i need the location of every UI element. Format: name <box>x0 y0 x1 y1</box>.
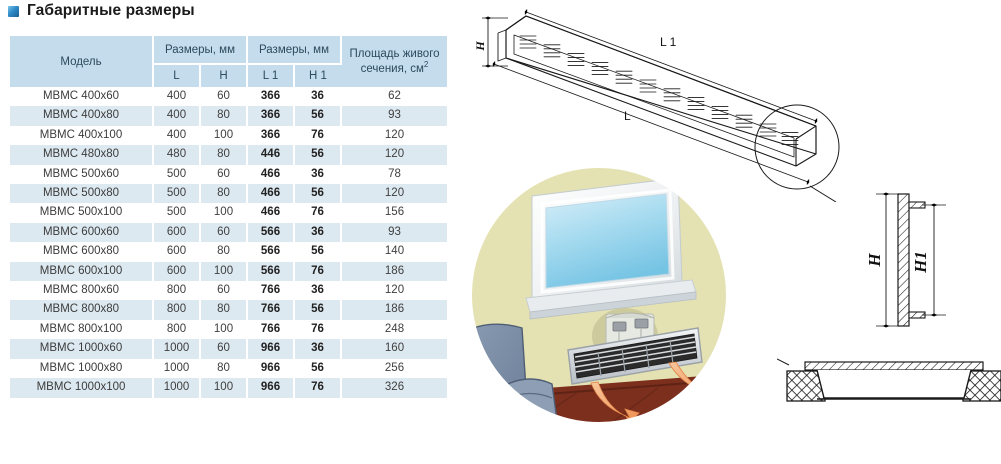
cell-h1: 56 <box>294 359 341 378</box>
cell-model: МВМС 500x60 <box>10 165 153 184</box>
drawing-area: H L 1 L <box>462 0 1001 464</box>
cell-l: 480 <box>153 145 200 164</box>
cell-l: 600 <box>153 223 200 242</box>
cell-l1: 466 <box>247 184 294 203</box>
cell-h1: 56 <box>294 184 341 203</box>
cell-model: МВМС 500x100 <box>10 203 153 222</box>
cell-area: 326 <box>341 378 447 397</box>
cell-l: 800 <box>153 300 200 319</box>
cell-l1: 966 <box>247 378 294 397</box>
cell-l1: 566 <box>247 242 294 261</box>
cell-h: 80 <box>200 106 247 125</box>
cell-l1: 766 <box>247 320 294 339</box>
duct-body-profile <box>817 370 971 398</box>
bullet-square-icon <box>8 6 19 17</box>
table-row: МВМС 800x608006076636120 <box>10 281 447 300</box>
cell-l: 400 <box>153 126 200 145</box>
cell-l: 1000 <box>153 359 200 378</box>
cell-l: 400 <box>153 106 200 125</box>
cell-l1: 966 <box>247 359 294 378</box>
leader-line-wall <box>777 359 789 365</box>
table-row: МВМС 600x806008056656140 <box>10 242 447 261</box>
cell-area: 120 <box>341 126 447 145</box>
cell-h: 80 <box>200 359 247 378</box>
col-header-h1: H 1 <box>294 64 341 87</box>
cell-model: МВМС 600x100 <box>10 262 153 281</box>
faceplate-horizontal <box>805 362 983 370</box>
cell-model: МВМС 800x100 <box>10 320 153 339</box>
col-header-group-1: Размеры, мм <box>153 36 247 64</box>
cell-model: МВМС 1000x80 <box>10 359 153 378</box>
cell-model: МВМС 400x100 <box>10 126 153 145</box>
col-header-h: H <box>200 64 247 87</box>
cell-area: 78 <box>341 165 447 184</box>
cell-l: 1000 <box>153 339 200 358</box>
cell-model: МВМС 800x60 <box>10 281 153 300</box>
cell-area: 120 <box>341 184 447 203</box>
dimension-H1-section: H1 <box>911 205 934 315</box>
table-body: МВМС 400x60400603663662МВМС 400x80400803… <box>10 87 447 398</box>
cell-model: МВМС 1000x100 <box>10 378 153 397</box>
table-head: Модель Размеры, мм Размеры, мм Площадь ж… <box>10 36 447 87</box>
cell-l: 500 <box>153 165 200 184</box>
cell-l1: 466 <box>247 165 294 184</box>
cell-h1: 36 <box>294 87 341 106</box>
label-L1-iso: L 1 <box>660 35 677 49</box>
cell-h: 100 <box>200 320 247 339</box>
cell-l1: 366 <box>247 87 294 106</box>
cell-area: 62 <box>341 87 447 106</box>
table-row: МВМС 500x10050010046676156 <box>10 203 447 222</box>
col-header-l1: L 1 <box>247 64 294 87</box>
cell-h1: 56 <box>294 300 341 319</box>
section-title: Габаритные размеры <box>8 2 195 20</box>
room-illustration <box>470 166 728 424</box>
page-title: Габаритные размеры <box>27 2 195 20</box>
cell-l1: 446 <box>247 145 294 164</box>
cell-h1: 76 <box>294 203 341 222</box>
cell-l: 1000 <box>153 378 200 397</box>
table-row: МВМС 500x805008046656120 <box>10 184 447 203</box>
cell-h: 80 <box>200 242 247 261</box>
cell-area: 140 <box>341 242 447 261</box>
cell-area: 156 <box>341 203 447 222</box>
cell-h1: 36 <box>294 281 341 300</box>
cell-l1: 966 <box>247 339 294 358</box>
table-row: МВМС 500x60500604663678 <box>10 165 447 184</box>
cell-l: 500 <box>153 184 200 203</box>
cell-l: 400 <box>153 87 200 106</box>
cell-h: 60 <box>200 339 247 358</box>
cell-h: 100 <box>200 203 247 222</box>
col-header-area: Площадь живого сечения, см2 <box>341 36 447 87</box>
cell-h: 80 <box>200 300 247 319</box>
cell-area: 120 <box>341 281 447 300</box>
dimension-H-section: H <box>865 194 886 326</box>
cell-area: 186 <box>341 262 447 281</box>
cell-h: 60 <box>200 165 247 184</box>
cell-model: МВМС 400x80 <box>10 106 153 125</box>
label-H-iso: H <box>473 41 487 52</box>
dimensions-table: Модель Размеры, мм Размеры, мм Площадь ж… <box>10 36 447 398</box>
table-row: МВМС 600x10060010056676186 <box>10 262 447 281</box>
cell-h: 100 <box>200 126 247 145</box>
table-row: МВМС 1000x6010006096636160 <box>10 339 447 358</box>
table-row: МВМС 800x10080010076676248 <box>10 320 447 339</box>
cell-h1: 36 <box>294 223 341 242</box>
cell-model: МВМС 480x80 <box>10 145 153 164</box>
cell-model: МВМС 800x80 <box>10 300 153 319</box>
cell-h1: 56 <box>294 242 341 261</box>
cell-l1: 366 <box>247 126 294 145</box>
cell-h1: 36 <box>294 339 341 358</box>
table-row: МВМС 1000x100100010096676326 <box>10 378 447 397</box>
cell-l: 500 <box>153 203 200 222</box>
table-row: МВМС 800x808008076656186 <box>10 300 447 319</box>
cell-area: 93 <box>341 223 447 242</box>
cell-l1: 766 <box>247 300 294 319</box>
table-row: МВМС 480x804808044656120 <box>10 145 447 164</box>
cell-area: 160 <box>341 339 447 358</box>
detail-leader-line <box>810 186 836 202</box>
table-row: МВМС 400x80400803665693 <box>10 106 447 125</box>
cell-l1: 466 <box>247 203 294 222</box>
table-row: МВМС 1000x8010008096656256 <box>10 359 447 378</box>
cell-l1: 566 <box>247 223 294 242</box>
cell-l: 800 <box>153 281 200 300</box>
table-row: МВМС 600x60600605663693 <box>10 223 447 242</box>
window-glass <box>546 194 669 288</box>
cell-model: МВМС 400x60 <box>10 87 153 106</box>
table-row: МВМС 400x10040010036676120 <box>10 126 447 145</box>
col-header-l: L <box>153 64 200 87</box>
col-header-model: Модель <box>10 36 153 87</box>
cell-h1: 76 <box>294 262 341 281</box>
cell-model: МВМС 1000x60 <box>10 339 153 358</box>
cell-model: МВМС 600x60 <box>10 223 153 242</box>
col-header-area-sup: 2 <box>424 60 428 69</box>
cell-h1: 76 <box>294 378 341 397</box>
cell-l: 600 <box>153 242 200 261</box>
col-header-area-line1: Площадь живого <box>349 48 439 60</box>
cell-l1: 766 <box>247 281 294 300</box>
cell-area: 120 <box>341 145 447 164</box>
table-row: МВМС 400x60400603663662 <box>10 87 447 106</box>
cell-l1: 566 <box>247 262 294 281</box>
dimension-L-iso: L <box>494 64 808 182</box>
cell-h: 100 <box>200 378 247 397</box>
cell-h: 80 <box>200 145 247 164</box>
cell-h1: 56 <box>294 106 341 125</box>
col-header-area-line2: сечения, см <box>361 63 424 75</box>
sofa-armrest <box>506 379 558 424</box>
cell-area: 186 <box>341 300 447 319</box>
label-H-section: H <box>865 253 884 268</box>
cross-section-wall-mount <box>777 345 1001 425</box>
cell-h: 60 <box>200 87 247 106</box>
cell-h1: 76 <box>294 126 341 145</box>
label-H1-section: H1 <box>911 251 930 274</box>
cell-h: 60 <box>200 223 247 242</box>
col-header-group-2: Размеры, мм <box>247 36 341 64</box>
cell-model: МВМС 500x80 <box>10 184 153 203</box>
cell-h1: 76 <box>294 320 341 339</box>
cell-l: 800 <box>153 320 200 339</box>
cell-h1: 56 <box>294 145 341 164</box>
cell-h: 60 <box>200 281 247 300</box>
cell-area: 93 <box>341 106 447 125</box>
cell-area: 248 <box>341 320 447 339</box>
cell-h1: 36 <box>294 165 341 184</box>
cross-section-vertical: H H1 <box>860 182 1000 372</box>
cell-area: 256 <box>341 359 447 378</box>
faceplate-profile <box>898 194 909 326</box>
cell-model: МВМС 600x80 <box>10 242 153 261</box>
cell-h: 100 <box>200 262 247 281</box>
cell-l: 600 <box>153 262 200 281</box>
cell-l1: 366 <box>247 106 294 125</box>
dimension-L1-iso: L 1 <box>526 12 816 121</box>
label-L-iso: L <box>624 109 631 123</box>
cell-h: 80 <box>200 184 247 203</box>
